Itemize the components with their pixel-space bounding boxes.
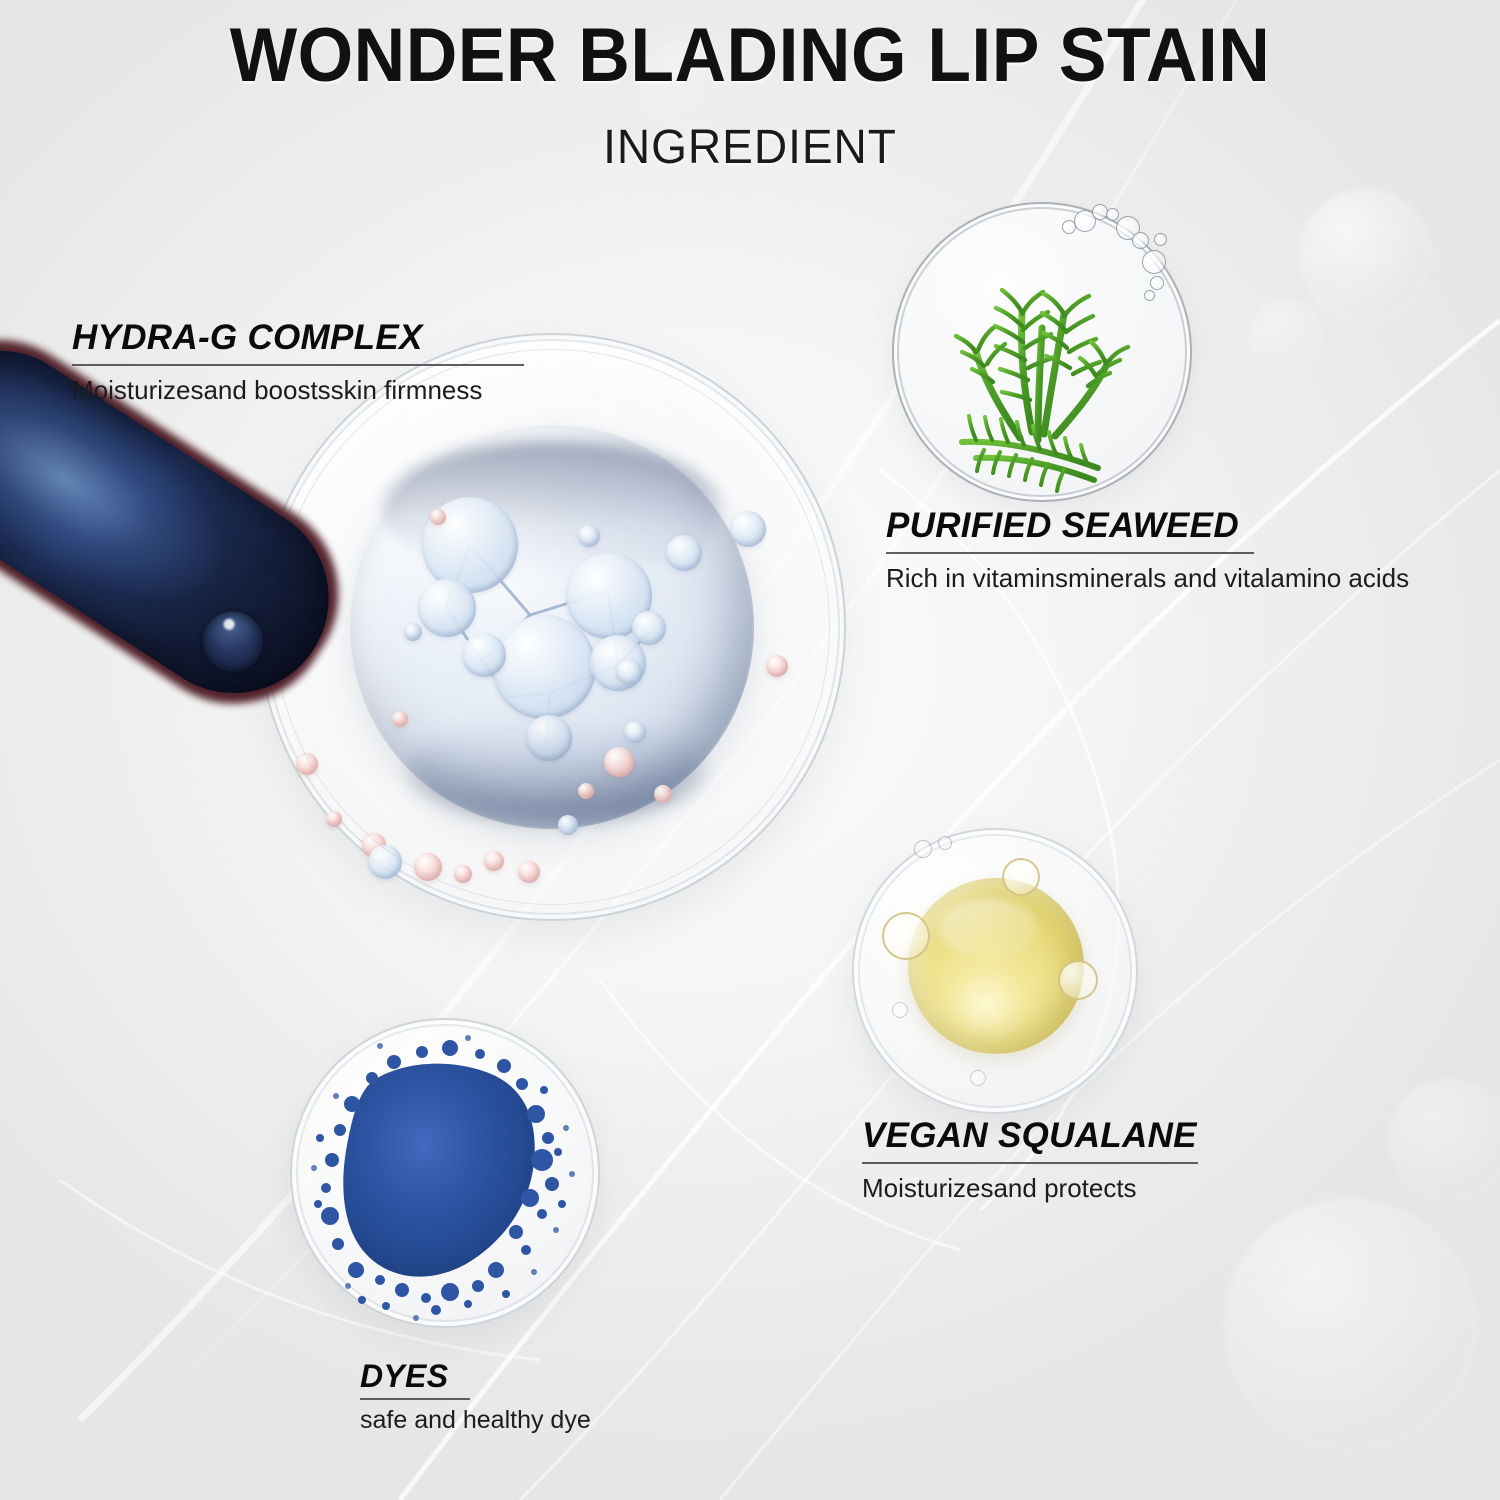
molecule-node <box>418 579 476 637</box>
surface-droplet <box>414 853 442 881</box>
ingredient-underline <box>72 364 524 366</box>
molecule-node <box>590 635 646 691</box>
ingredient-description: safe and healthy dye <box>360 1406 591 1435</box>
ingredient-label-dyes: DYES safe and healthy dye <box>360 1360 591 1435</box>
molecule-structure-icon <box>350 425 754 829</box>
page-title: WONDER BLADING LIP STAIN <box>45 18 1455 94</box>
rim-bubble <box>1132 232 1149 249</box>
molecule-node <box>666 535 702 571</box>
petri-dish-dyes <box>290 1018 600 1328</box>
surface-droplet <box>454 865 472 883</box>
ingredient-name: PURIFIED SEAWEED <box>886 508 1409 545</box>
surface-droplet <box>730 511 766 547</box>
seaweed-icon <box>892 202 1192 502</box>
ingredient-description: Moisturizesand boostsskin firmness <box>72 375 524 406</box>
rim-bubble <box>1062 220 1076 234</box>
ingredient-label-seaweed: PURIFIED SEAWEED Rich in vitaminsmineral… <box>886 508 1409 594</box>
oil-bubble <box>882 912 930 960</box>
surface-droplet <box>624 721 646 743</box>
background-bubble <box>1250 300 1322 372</box>
oil-bubble <box>1058 960 1098 1000</box>
oil-bubble <box>1002 858 1040 896</box>
page-subtitle: INGREDIENT <box>30 120 1470 175</box>
ingredient-underline <box>862 1162 1198 1164</box>
floating-bubble <box>1154 233 1167 246</box>
background-bubble <box>1225 1200 1475 1450</box>
water-droplet-icon <box>350 425 754 829</box>
rim-bubble <box>1106 208 1119 221</box>
molecule-node <box>462 633 506 677</box>
ingredient-description: Rich in vitaminsminerals and vitalamino … <box>886 563 1409 594</box>
ingredient-underline <box>886 552 1254 554</box>
oil-bubble <box>892 1002 908 1018</box>
ingredient-name: HYDRA-G COMPLEX <box>72 320 524 357</box>
surface-droplet <box>578 783 594 799</box>
oil-droplet-icon <box>908 878 1084 1054</box>
rim-bubble <box>1142 250 1166 274</box>
rim-bubble <box>1144 290 1155 301</box>
molecule-node <box>578 525 600 547</box>
oil-bubble <box>970 1070 986 1086</box>
ingredient-label-hydra: HYDRA-G COMPLEX Moisturizesand boostsski… <box>72 320 524 406</box>
molecule-node <box>632 611 666 645</box>
background-bubble <box>1390 1080 1500 1200</box>
ingredient-name: DYES <box>360 1360 591 1394</box>
molecule-node <box>492 615 596 719</box>
surface-droplet <box>558 815 578 835</box>
ingredient-name: VEGAN SQUALANE <box>862 1118 1198 1155</box>
petri-dish-seaweed <box>892 202 1192 502</box>
surface-droplet <box>296 753 318 775</box>
surface-droplet <box>430 509 446 525</box>
molecule-node <box>616 659 642 685</box>
surface-droplet <box>326 811 342 827</box>
background-bubble <box>1300 190 1430 320</box>
ingredient-infographic: WONDER BLADING LIP STAIN INGREDIENT <box>0 0 1500 1500</box>
blue-pigment-powder-icon <box>290 1018 600 1328</box>
rim-bubble <box>1150 276 1164 290</box>
ingredient-underline <box>360 1398 470 1400</box>
petri-dish-squalane <box>852 828 1138 1114</box>
surface-droplet <box>392 711 408 727</box>
surface-droplet <box>484 851 504 871</box>
molecule-node <box>526 715 572 761</box>
oil-bubble <box>938 836 952 850</box>
petri-dish-hydra <box>258 333 846 921</box>
surface-droplet <box>654 785 672 803</box>
surface-droplet <box>604 747 634 777</box>
ingredient-description: Moisturizesand protects <box>862 1173 1198 1204</box>
ingredient-label-squalane: VEGAN SQUALANE Moisturizesand protects <box>862 1118 1198 1204</box>
molecule-node <box>566 553 652 639</box>
molecule-node <box>422 497 518 593</box>
surface-droplet <box>518 861 540 883</box>
oil-bubble <box>914 840 932 858</box>
surface-droplet <box>368 845 402 879</box>
surface-droplet <box>766 655 788 677</box>
surface-droplet <box>404 623 422 641</box>
